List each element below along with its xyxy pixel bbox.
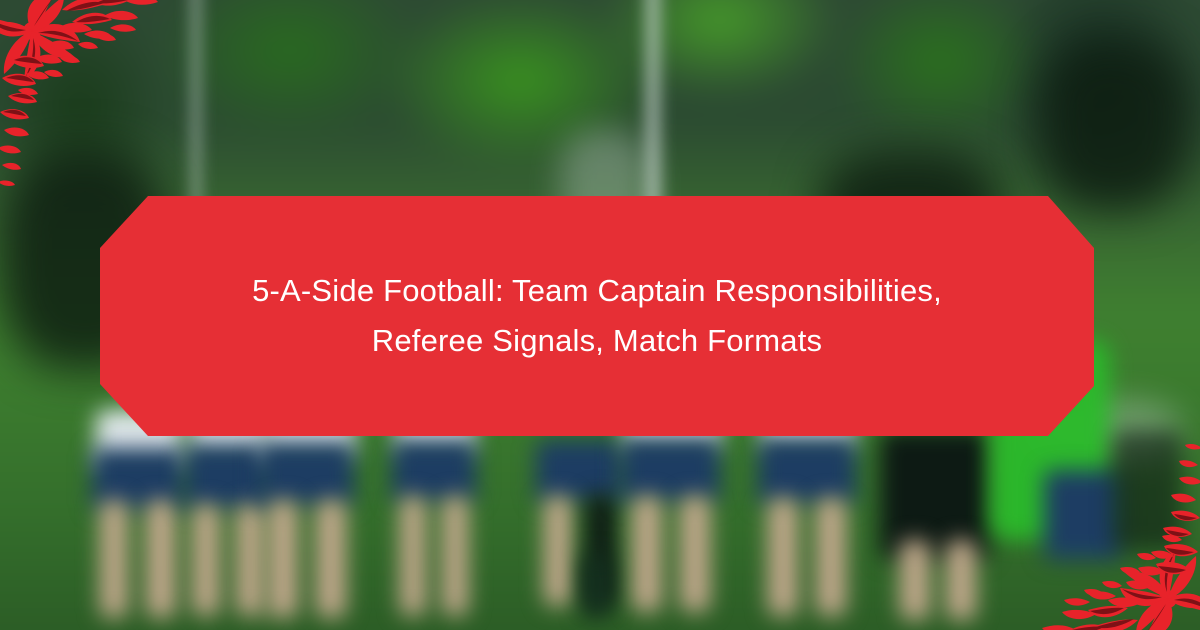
background-player <box>768 498 798 616</box>
background-player <box>100 500 128 618</box>
background-player <box>400 496 426 616</box>
background-player <box>268 500 298 618</box>
background-player <box>192 504 220 616</box>
page-title: 5-A-Side Football: Team Captain Responsi… <box>157 266 1037 366</box>
background-player <box>816 498 846 616</box>
title-banner: 5-A-Side Football: Team Captain Responsi… <box>100 196 1094 436</box>
background-player <box>900 540 930 620</box>
background-player <box>582 556 610 618</box>
background-player <box>316 500 346 618</box>
background-player <box>1044 470 1122 560</box>
background-player <box>758 438 856 504</box>
background-player <box>442 496 468 616</box>
share-card: 5-A-Side Football: Team Captain Responsi… <box>0 0 1200 630</box>
background-player <box>258 442 354 506</box>
background-player <box>392 440 476 502</box>
background-shadow <box>1040 40 1190 210</box>
background-player <box>1112 430 1182 550</box>
background-player <box>544 496 572 606</box>
background-player <box>620 438 720 502</box>
background-player <box>146 500 176 618</box>
background-player <box>236 504 264 616</box>
background-player <box>680 496 710 612</box>
background-player <box>880 430 990 560</box>
background-player <box>536 440 622 502</box>
background-player <box>632 496 662 612</box>
background-player <box>946 540 976 620</box>
